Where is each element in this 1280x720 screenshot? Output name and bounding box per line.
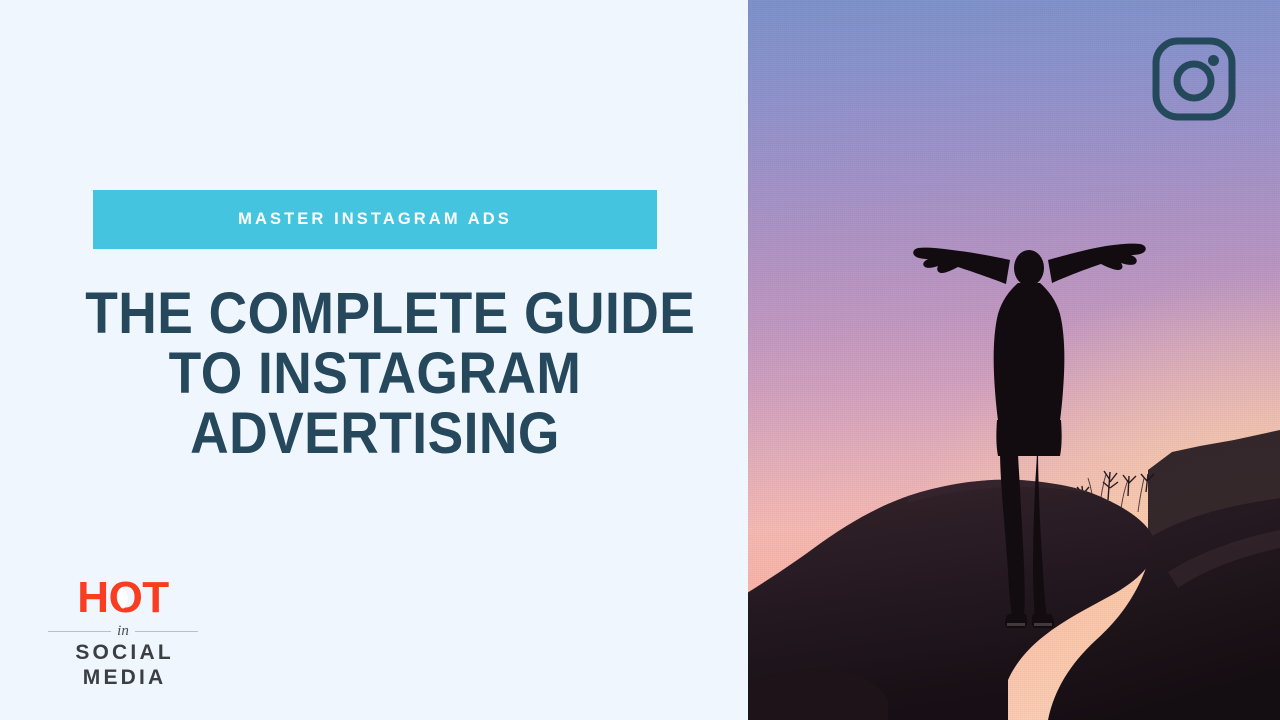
hero-photo (748, 0, 1280, 720)
headline-line-1: THE COMPLETE GUIDE (85, 284, 665, 344)
logo-connector-row: in (48, 622, 198, 640)
logo-word-media: MEDIA (48, 665, 198, 690)
logo-hot-word: HOT (48, 576, 198, 620)
left-content-panel: MASTER INSTAGRAM ADS THE COMPLETE GUIDE … (0, 0, 748, 720)
page-title: THE COMPLETE GUIDE TO INSTAGRAM ADVERTIS… (85, 284, 665, 464)
eyebrow-label: MASTER INSTAGRAM ADS (238, 211, 512, 228)
poster-canvas: MASTER INSTAGRAM ADS THE COMPLETE GUIDE … (0, 0, 1280, 720)
headline-line-3: ADVERTISING (85, 404, 665, 464)
instagram-icon[interactable] (1150, 35, 1238, 123)
logo-rule-left (48, 631, 111, 632)
logo-rule-right (135, 631, 198, 632)
logo-connector-text: in (117, 624, 129, 639)
logo-hot-text: HOT (77, 576, 168, 620)
headline-line-2: TO INSTAGRAM (85, 344, 665, 404)
logo-word-social: SOCIAL (48, 640, 198, 665)
brand-logo: HOT in SOCIAL MEDIA (48, 576, 198, 676)
eyebrow-banner: MASTER INSTAGRAM ADS (93, 190, 657, 249)
